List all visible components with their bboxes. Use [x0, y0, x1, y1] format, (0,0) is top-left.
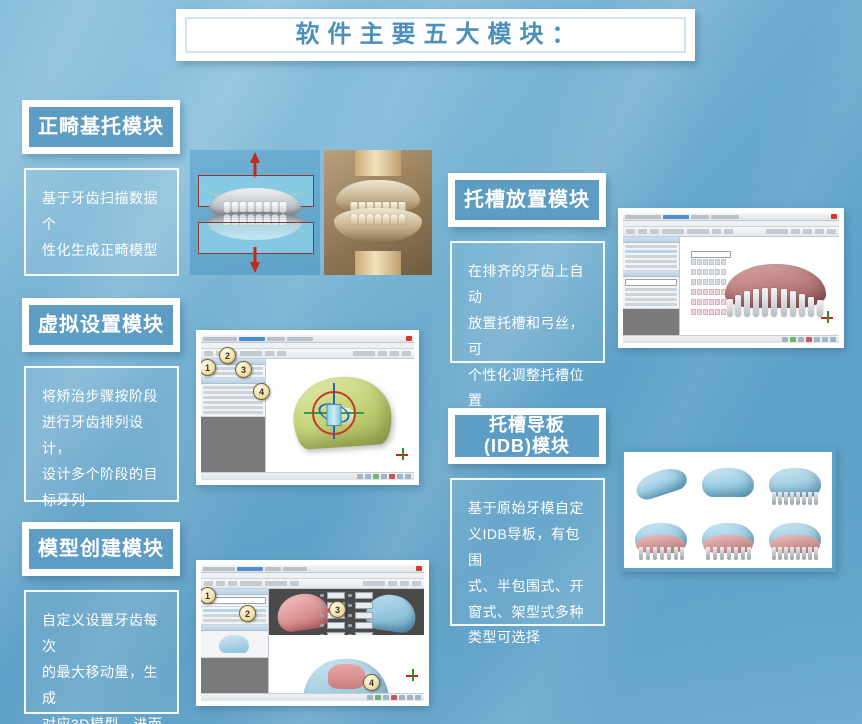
app-titlebar [623, 213, 839, 221]
module-description-text-ortho-base: 基于牙齿扫描数据个 性化生成正畸模型 [42, 190, 158, 258]
module-header-fill-model-creation: 模型创建模块 [29, 529, 173, 569]
cad-app-window-bracket [623, 213, 839, 343]
app-left-panel[interactable] [201, 589, 269, 693]
app-toolbar[interactable] [201, 579, 424, 589]
app-statusbar [201, 693, 424, 701]
app-main-area [201, 589, 424, 693]
app-active-tab[interactable] [239, 337, 265, 341]
module-description-text-idb-guide: 基于原始牙模自定 义IDB导板，有包围 式、半包围式、开 窗式、架型式多种 类型… [468, 500, 584, 645]
figure-model-creation-software-window: 1 2 3 4 [196, 560, 429, 706]
module-header-label-virtual-setup: 虚拟设置模块 [38, 314, 164, 337]
close-icon[interactable] [406, 336, 412, 341]
app-active-tab[interactable] [237, 567, 263, 571]
close-icon[interactable] [831, 214, 837, 219]
app-left-panel[interactable] [623, 237, 680, 335]
module-header-model-creation[interactable]: 模型创建模块 [22, 522, 180, 576]
transform-gizmo[interactable] [312, 391, 356, 435]
panel-properties[interactable] [623, 277, 679, 309]
idb-tray-variant-5 [695, 511, 760, 564]
poster-title-inner-border: 软件主要五大模块： [185, 17, 686, 53]
figure-virtual-setup-software-window: 1 2 3 4 [196, 330, 419, 485]
module-header-fill-virtual-setup: 虚拟设置模块 [29, 305, 173, 345]
app-toolbar[interactable] [623, 227, 839, 237]
module-header-idb-guide[interactable]: 托槽导板 (IDB)模块 [448, 408, 606, 464]
app-titlebar [201, 565, 424, 573]
axis-indicator-icon [396, 448, 410, 462]
close-icon[interactable] [416, 566, 422, 571]
arch-thumbnail [219, 635, 249, 653]
callout-badge-4: 4 [363, 674, 380, 691]
module-header-fill-idb-guide: 托槽导板 (IDB)模块 [455, 415, 599, 457]
app-titlebar [201, 335, 414, 343]
panel-empty-area [623, 309, 679, 335]
module-header-label-ortho-base: 正畸基托模块 [38, 116, 164, 139]
panel-preview-arch [201, 631, 268, 658]
module-description-text-bracket-placement: 在排齐的牙齿上自动 放置托槽和弓丝，可 个性化调整托槽位置 [468, 263, 584, 408]
callout-badge-2: 2 [239, 605, 256, 622]
module-header-fill-bracket-placement: 托槽放置模块 [455, 180, 599, 220]
panel-tooth-chart[interactable] [623, 243, 679, 271]
idb-tray-grid [628, 456, 828, 564]
base-block-upper [355, 150, 401, 176]
lower-teeth-render [351, 214, 406, 225]
cad-app-window-model-creation [201, 565, 424, 701]
panel-section-2 [201, 607, 268, 625]
module-header-fill-ortho-base: 正畸基托模块 [29, 107, 173, 147]
idb-tray-variant-6 [763, 511, 828, 564]
base-block-lower [355, 251, 401, 275]
app-3d-viewport[interactable] [680, 237, 839, 335]
viewport-lower-white-region [269, 635, 424, 693]
idb-tray-variant-2 [695, 456, 760, 509]
callout-badge-3: 3 [329, 601, 346, 618]
arrow-down-icon [250, 262, 260, 273]
module-header-label-bracket-placement: 托槽放置模块 [464, 189, 590, 212]
app-main-area [623, 237, 839, 335]
page-title: 软件主要五大模块： [288, 23, 584, 47]
panel-empty-area [201, 417, 265, 472]
arrow-down-stem [254, 247, 257, 263]
module-header-bracket-placement[interactable]: 托槽放置模块 [448, 173, 606, 227]
parameter-form[interactable] [320, 592, 373, 624]
panel-empty-area [201, 658, 268, 693]
bracket-prescription-table[interactable] [691, 259, 726, 319]
app-statusbar [201, 472, 414, 480]
module-description-virtual-setup: 将矫治步骤按阶段 进行牙齿排列设计， 设计多个阶段的目 标牙列 [24, 366, 179, 502]
idb-tray-variant-1 [628, 456, 693, 509]
module-description-idb-guide: 基于原始牙模自定 义IDB导板，有包围 式、半包围式、开 窗式、架型式多种 类型… [450, 478, 605, 626]
bracket-row [725, 266, 827, 317]
module-header-label-model-creation: 模型创建模块 [38, 538, 164, 561]
module-header-ortho-base[interactable]: 正畸基托模块 [22, 100, 180, 154]
poster-title-banner: 软件主要五大模块： [176, 9, 695, 61]
figure-ortho-base-3d-models [190, 150, 432, 275]
app-main-area [201, 359, 414, 472]
viewport-upper-dark-region [269, 589, 424, 635]
callout-badge-4: 4 [253, 383, 270, 400]
search-field[interactable] [691, 251, 731, 258]
bracket-window-body [623, 213, 839, 343]
ortho-base-rendered-view [324, 150, 432, 275]
figure-idb-tray-variants [620, 448, 836, 572]
app-statusbar [623, 335, 839, 343]
ortho-base-transform-view [190, 150, 320, 275]
module-header-virtual-setup[interactable]: 虚拟设置模块 [22, 298, 180, 352]
module-description-bracket-placement: 在排齐的牙齿上自动 放置托槽和弓丝，可 个性化调整托槽位置 [450, 241, 605, 363]
virtual-setup-window-body: 1 2 3 4 [201, 335, 414, 480]
idb-tray-variant-4 [628, 511, 693, 564]
module-description-model-creation: 自定义设置牙齿每次 的最大移动量，生成 对应3D模型，进而 进行隐形矫治器生产 [24, 590, 179, 714]
axis-indicator-icon [821, 311, 835, 325]
module-description-text-virtual-setup: 将矫治步骤按阶段 进行牙齿排列设计， 设计多个阶段的目 标牙列 [42, 388, 158, 508]
module-description-ortho-base: 基于牙齿扫描数据个 性化生成正畸模型 [24, 168, 179, 276]
gingiva-region [328, 664, 366, 689]
figure-bracket-placement-software-window [618, 208, 844, 348]
callout-badge-2: 2 [219, 347, 236, 364]
model-creation-window-body: 1 2 3 4 [201, 565, 424, 701]
idb-tray-variant-3 [763, 456, 828, 509]
axis-indicator-icon [406, 669, 420, 683]
module-header-label-idb-guide: 托槽导板 (IDB)模块 [484, 415, 570, 456]
app-3d-viewport[interactable] [266, 359, 414, 472]
app-left-panel[interactable] [201, 359, 266, 472]
module-description-text-model-creation: 自定义设置牙齿每次 的最大移动量，生成 对应3D模型，进而 进行隐形矫治器生产 [42, 612, 162, 724]
app-3d-viewport[interactable] [269, 589, 424, 693]
app-active-tab[interactable] [663, 215, 689, 219]
poster-canvas: 软件主要五大模块： 正畸基托模块 基于牙齿扫描数据个 性化生成正畸模型 [0, 0, 862, 724]
callout-badge-3: 3 [235, 361, 252, 378]
